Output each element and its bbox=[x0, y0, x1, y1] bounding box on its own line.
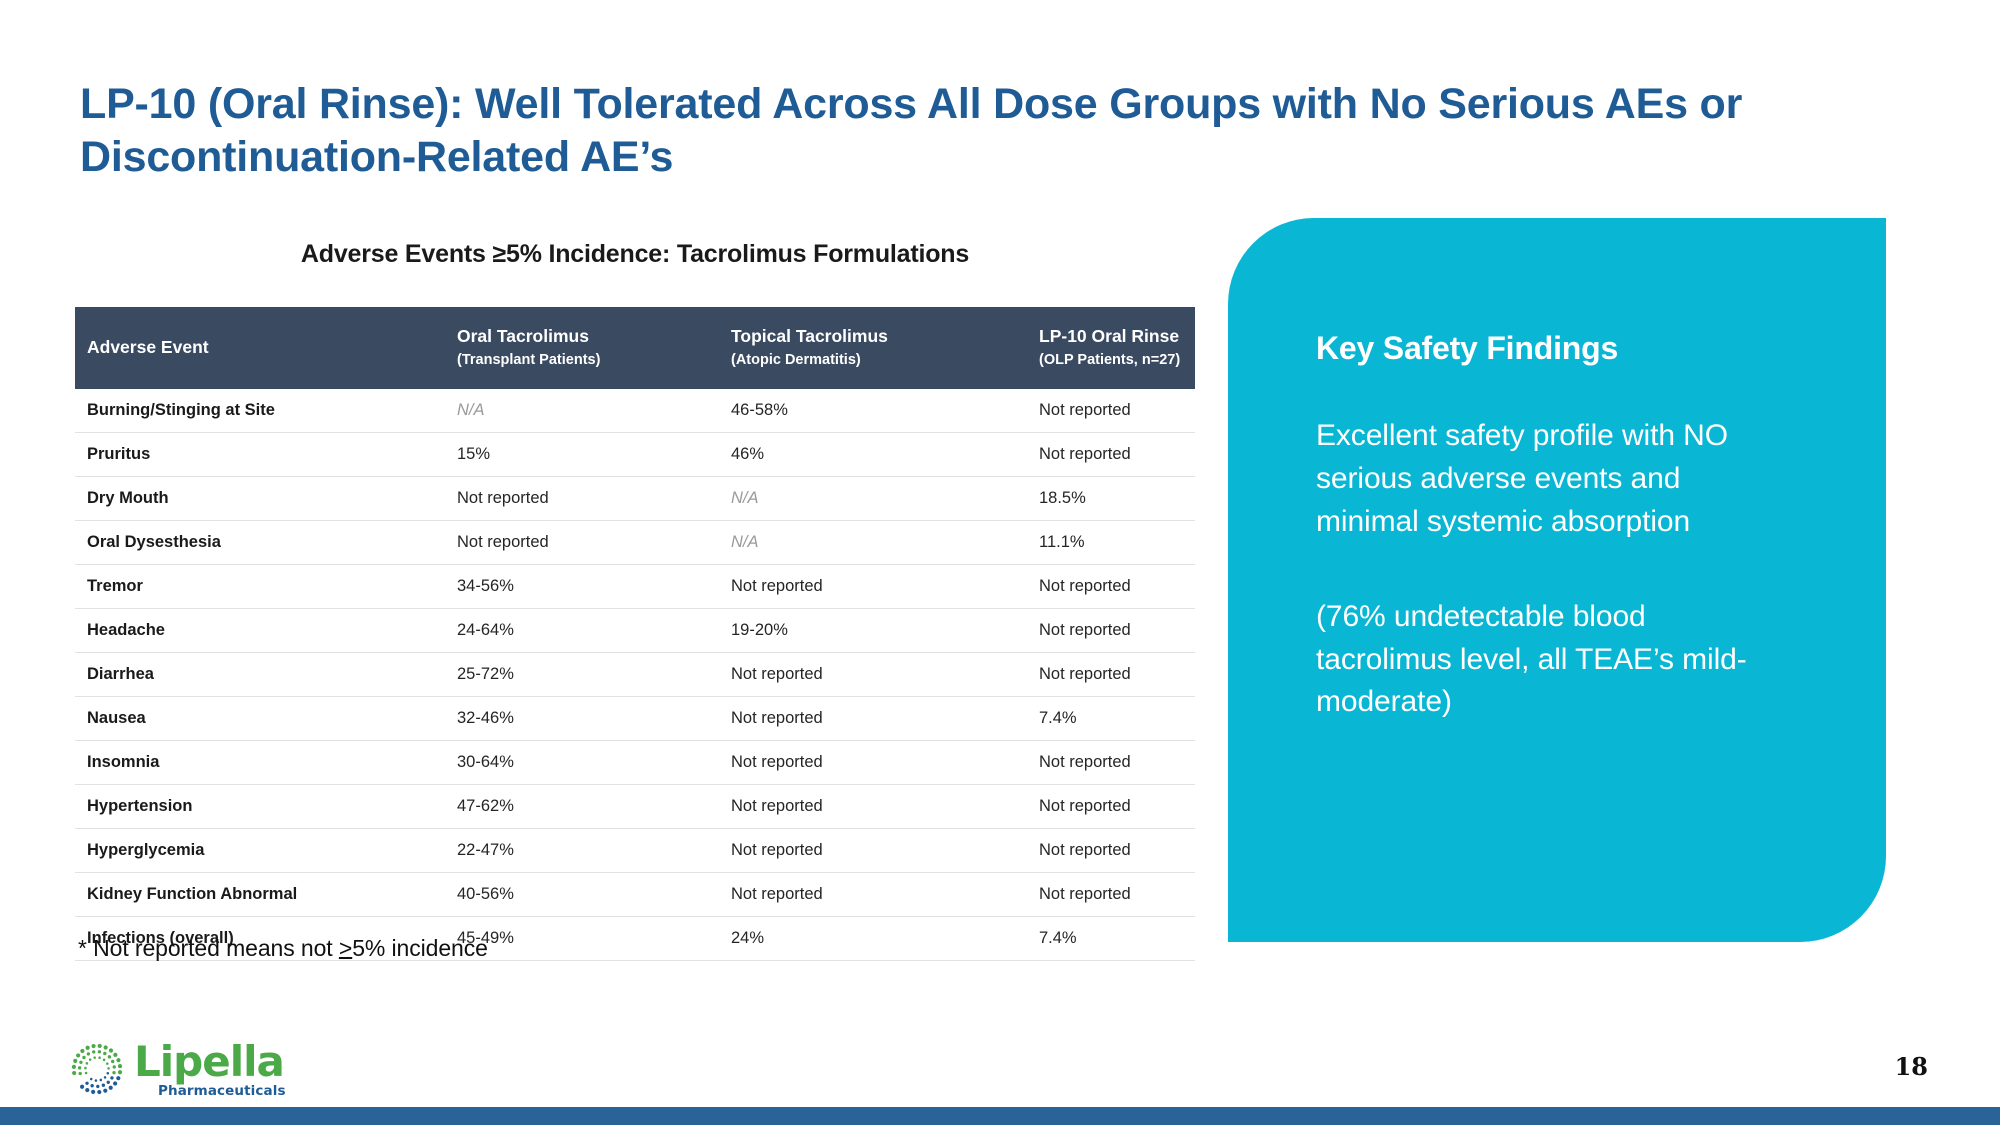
table-body: Burning/Stinging at SiteN/A46-58%Not rep… bbox=[75, 389, 1195, 961]
cell-adverse-event: Pruritus bbox=[75, 432, 445, 476]
slide-canvas: LP-10 (Oral Rinse): Well Tolerated Acros… bbox=[0, 0, 2000, 1125]
adverse-events-table-section: Adverse Events ≥5% Incidence: Tacrolimus… bbox=[75, 240, 1195, 961]
table-row: Burning/Stinging at SiteN/A46-58%Not rep… bbox=[75, 389, 1195, 433]
column-header-title: LP-10 Oral Rinse bbox=[1039, 326, 1185, 348]
cell-topical-tacrolimus: 19-20% bbox=[719, 608, 1027, 652]
adverse-events-table: Adverse Event Oral Tacrolimus (Transplan… bbox=[75, 307, 1195, 961]
cell-topical-tacrolimus: Not reported bbox=[719, 696, 1027, 740]
cell-adverse-event: Hyperglycemia bbox=[75, 828, 445, 872]
cell-oral-tacrolimus: 40-56% bbox=[445, 872, 719, 916]
column-header-title: Oral Tacrolimus bbox=[457, 326, 709, 348]
footnote-suffix: 5% incidence bbox=[352, 935, 488, 961]
column-header-subtitle: (Atopic Dermatitis) bbox=[731, 351, 1017, 370]
cell-topical-tacrolimus: 46% bbox=[719, 432, 1027, 476]
cell-adverse-event: Tremor bbox=[75, 564, 445, 608]
cell-lp10-oral-rinse: Not reported bbox=[1027, 564, 1195, 608]
cell-oral-tacrolimus: 22-47% bbox=[445, 828, 719, 872]
column-header-subtitle: (OLP Patients, n=27) bbox=[1039, 351, 1185, 370]
cell-adverse-event: Burning/Stinging at Site bbox=[75, 389, 445, 433]
table-row: Pruritus15%46%Not reported bbox=[75, 432, 1195, 476]
page-title: LP-10 (Oral Rinse): Well Tolerated Acros… bbox=[80, 78, 1910, 184]
table-row: Oral DysesthesiaNot reportedN/A11.1% bbox=[75, 520, 1195, 564]
footer-bar bbox=[0, 1107, 2000, 1125]
key-safety-paragraph-1: Excellent safety profile with NO serious… bbox=[1316, 415, 1786, 544]
cell-lp10-oral-rinse: Not reported bbox=[1027, 652, 1195, 696]
table-row: Kidney Function Abnormal40-56%Not report… bbox=[75, 872, 1195, 916]
key-safety-paragraph-2: (76% undetectable blood tacrolimus level… bbox=[1316, 596, 1786, 725]
footnote-prefix: * Not reported means not bbox=[78, 935, 339, 961]
cell-lp10-oral-rinse: 18.5% bbox=[1027, 476, 1195, 520]
column-header-title: Adverse Event bbox=[87, 337, 435, 359]
cell-adverse-event: Dry Mouth bbox=[75, 476, 445, 520]
table-row: Headache24-64%19-20%Not reported bbox=[75, 608, 1195, 652]
cell-adverse-event: Hypertension bbox=[75, 784, 445, 828]
cell-oral-tacrolimus: Not reported bbox=[445, 520, 719, 564]
page-title-line-2: Discontinuation-Related AE’s bbox=[80, 133, 673, 181]
table-row: Hyperglycemia22-47%Not reportedNot repor… bbox=[75, 828, 1195, 872]
cell-lp10-oral-rinse: Not reported bbox=[1027, 828, 1195, 872]
cell-topical-tacrolimus: Not reported bbox=[719, 564, 1027, 608]
cell-oral-tacrolimus: 34-56% bbox=[445, 564, 719, 608]
logo-wordmark-group: Lipella Pharmaceuticals bbox=[134, 1042, 314, 1099]
cell-lp10-oral-rinse: Not reported bbox=[1027, 432, 1195, 476]
cell-topical-tacrolimus: Not reported bbox=[719, 828, 1027, 872]
cell-lp10-oral-rinse: Not reported bbox=[1027, 784, 1195, 828]
table-header-row: Adverse Event Oral Tacrolimus (Transplan… bbox=[75, 307, 1195, 389]
cell-lp10-oral-rinse: Not reported bbox=[1027, 389, 1195, 433]
page-number: 18 bbox=[1895, 1052, 1928, 1081]
logo-wordmark: Lipella bbox=[134, 1042, 314, 1082]
cell-adverse-event: Diarrhea bbox=[75, 652, 445, 696]
cell-lp10-oral-rinse: 7.4% bbox=[1027, 916, 1195, 960]
table-row: Insomnia30-64%Not reportedNot reported bbox=[75, 740, 1195, 784]
cell-topical-tacrolimus: 24% bbox=[719, 916, 1027, 960]
cell-topical-tacrolimus: Not reported bbox=[719, 740, 1027, 784]
cell-lp10-oral-rinse: 11.1% bbox=[1027, 520, 1195, 564]
cell-oral-tacrolimus: 32-46% bbox=[445, 696, 719, 740]
cell-adverse-event: Insomnia bbox=[75, 740, 445, 784]
column-header-subtitle: (Transplant Patients) bbox=[457, 351, 709, 370]
key-safety-findings-panel: Key Safety Findings Excellent safety pro… bbox=[1228, 218, 1886, 942]
cell-topical-tacrolimus: Not reported bbox=[719, 652, 1027, 696]
table-header: Adverse Event Oral Tacrolimus (Transplan… bbox=[75, 307, 1195, 389]
cell-adverse-event: Oral Dysesthesia bbox=[75, 520, 445, 564]
cell-oral-tacrolimus: 24-64% bbox=[445, 608, 719, 652]
key-safety-findings-title: Key Safety Findings bbox=[1316, 330, 1786, 367]
cell-oral-tacrolimus: N/A bbox=[445, 389, 719, 433]
logo-tagline: Pharmaceuticals bbox=[158, 1083, 314, 1099]
cell-topical-tacrolimus: N/A bbox=[719, 520, 1027, 564]
cell-oral-tacrolimus: 47-62% bbox=[445, 784, 719, 828]
cell-oral-tacrolimus: 30-64% bbox=[445, 740, 719, 784]
page-title-line-1: LP-10 (Oral Rinse): Well Tolerated Acros… bbox=[80, 80, 1742, 128]
table-row: Nausea32-46%Not reported7.4% bbox=[75, 696, 1195, 740]
cell-topical-tacrolimus: 46-58% bbox=[719, 389, 1027, 433]
column-header-oral-tacrolimus: Oral Tacrolimus (Transplant Patients) bbox=[445, 307, 719, 389]
table-row: Hypertension47-62%Not reportedNot report… bbox=[75, 784, 1195, 828]
cell-topical-tacrolimus: Not reported bbox=[719, 784, 1027, 828]
table-caption: Adverse Events ≥5% Incidence: Tacrolimus… bbox=[75, 240, 1195, 269]
cell-lp10-oral-rinse: Not reported bbox=[1027, 872, 1195, 916]
table-row: Diarrhea25-72%Not reportedNot reported bbox=[75, 652, 1195, 696]
cell-lp10-oral-rinse: Not reported bbox=[1027, 608, 1195, 652]
cell-lp10-oral-rinse: 7.4% bbox=[1027, 696, 1195, 740]
column-header-topical-tacrolimus: Topical Tacrolimus (Atopic Dermatitis) bbox=[719, 307, 1027, 389]
lipella-spiral-mark-icon bbox=[68, 1040, 126, 1098]
cell-lp10-oral-rinse: Not reported bbox=[1027, 740, 1195, 784]
company-logo: Lipella Pharmaceuticals bbox=[68, 1040, 318, 1102]
column-header-adverse-event: Adverse Event bbox=[75, 307, 445, 389]
table-footnote: * Not reported means not >5% incidence bbox=[78, 935, 488, 962]
cell-adverse-event: Headache bbox=[75, 608, 445, 652]
cell-oral-tacrolimus: 25-72% bbox=[445, 652, 719, 696]
table-row: Tremor34-56%Not reportedNot reported bbox=[75, 564, 1195, 608]
key-safety-findings-content: Key Safety Findings Excellent safety pro… bbox=[1316, 330, 1786, 724]
table-row: Dry MouthNot reportedN/A18.5% bbox=[75, 476, 1195, 520]
cell-adverse-event: Kidney Function Abnormal bbox=[75, 872, 445, 916]
cell-topical-tacrolimus: N/A bbox=[719, 476, 1027, 520]
cell-topical-tacrolimus: Not reported bbox=[719, 872, 1027, 916]
cell-adverse-event: Nausea bbox=[75, 696, 445, 740]
cell-oral-tacrolimus: Not reported bbox=[445, 476, 719, 520]
footnote-greater-equal-symbol: > bbox=[339, 935, 352, 961]
column-header-lp10-oral-rinse: LP-10 Oral Rinse (OLP Patients, n=27) bbox=[1027, 307, 1195, 389]
cell-oral-tacrolimus: 15% bbox=[445, 432, 719, 476]
column-header-title: Topical Tacrolimus bbox=[731, 326, 1017, 348]
